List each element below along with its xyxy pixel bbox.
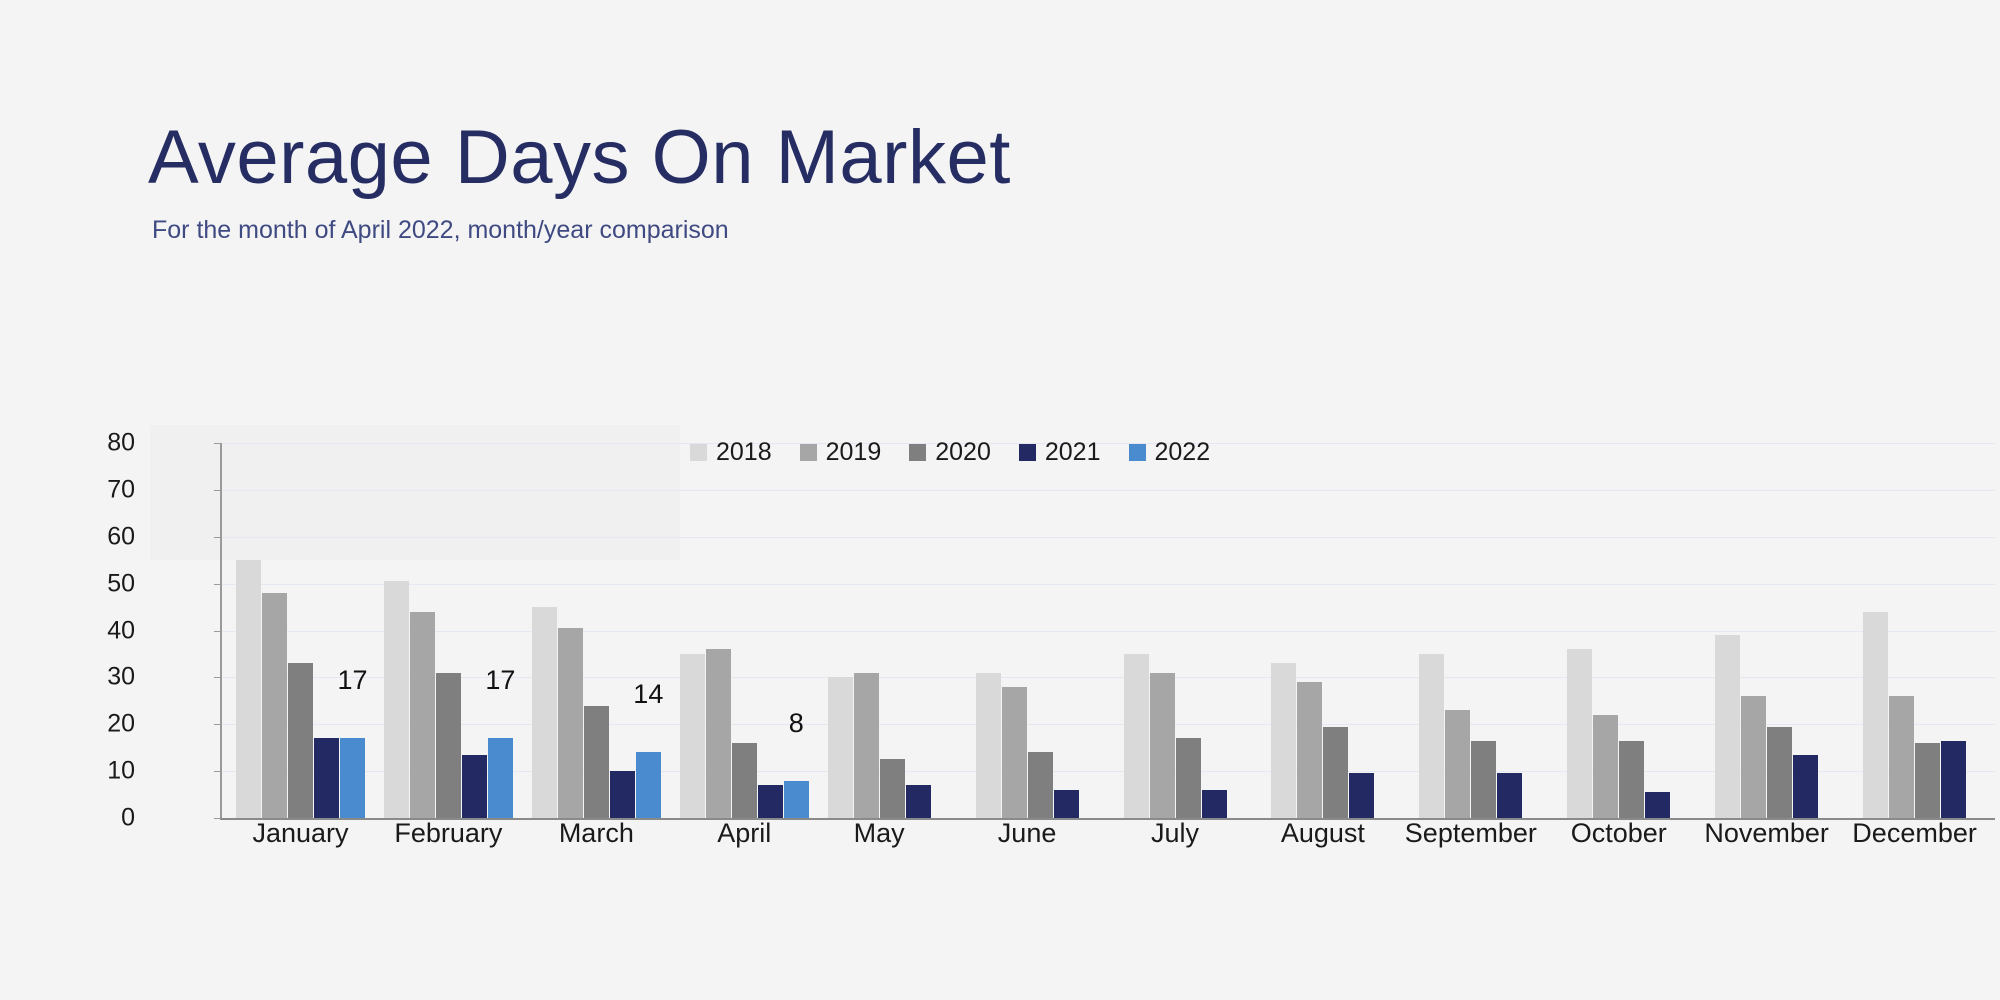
page-title: Average Days On Market: [148, 120, 1748, 196]
legend-swatch-icon: [800, 444, 817, 461]
bar-april-2021[interactable]: [758, 785, 783, 818]
legend-swatch-icon: [1129, 444, 1146, 461]
x-axis-label-december: December: [1852, 818, 1977, 849]
bar-group-february: [384, 443, 513, 818]
bar-group-june: [976, 443, 1079, 818]
x-axis-label-october: October: [1571, 818, 1667, 849]
bar-june-2018[interactable]: [976, 673, 1001, 818]
legend-swatch-icon: [909, 444, 926, 461]
bar-december-2020[interactable]: [1915, 743, 1940, 818]
legend-item-2022[interactable]: 2022: [1129, 440, 1211, 465]
legend-item-label: 2019: [826, 440, 882, 465]
bar-july-2019[interactable]: [1150, 673, 1175, 818]
x-axis-label-november: November: [1704, 818, 1829, 849]
y-axis-tick-label: 30: [75, 663, 135, 692]
bar-february-2021[interactable]: [462, 755, 487, 818]
bar-group-may: [828, 443, 931, 818]
bar-group-january: [236, 443, 365, 818]
bar-group-april: [680, 443, 809, 818]
bar-march-2020[interactable]: [584, 706, 609, 819]
bar-september-2019[interactable]: [1445, 710, 1470, 818]
bar-group-september: [1419, 443, 1522, 818]
bar-march-2021[interactable]: [610, 771, 635, 818]
y-axis-tick-label: 20: [75, 710, 135, 739]
x-axis-label-august: August: [1281, 818, 1365, 849]
bar-february-2022[interactable]: [488, 738, 513, 818]
legend-item-label: 2018: [716, 440, 772, 465]
bar-group-october: [1567, 443, 1670, 818]
y-axis-tick-label: 70: [75, 475, 135, 504]
bar-june-2021[interactable]: [1054, 790, 1079, 818]
legend-item-2018[interactable]: 2018: [690, 440, 772, 465]
bar-july-2020[interactable]: [1176, 738, 1201, 818]
bar-data-label-april: 8: [789, 708, 804, 739]
bar-january-2022[interactable]: [340, 738, 365, 818]
bar-october-2020[interactable]: [1619, 741, 1644, 818]
bar-august-2020[interactable]: [1323, 727, 1348, 818]
bar-january-2021[interactable]: [314, 738, 339, 818]
x-axis-label-july: July: [1151, 818, 1199, 849]
bar-august-2018[interactable]: [1271, 663, 1296, 818]
x-axis-label-september: September: [1405, 818, 1537, 849]
bar-group-december: [1863, 443, 1966, 818]
bar-group-august: [1271, 443, 1374, 818]
chart-header: Average Days On Market For the month of …: [148, 120, 1748, 245]
bar-march-2019[interactable]: [558, 628, 583, 818]
bar-july-2021[interactable]: [1202, 790, 1227, 818]
x-axis-label-may: May: [854, 818, 905, 849]
y-axis-tick-label: 80: [75, 429, 135, 458]
bar-february-2020[interactable]: [436, 673, 461, 818]
bar-april-2020[interactable]: [732, 743, 757, 818]
bar-may-2019[interactable]: [854, 673, 879, 818]
x-axis-label-february: February: [394, 818, 502, 849]
x-axis-label-june: June: [998, 818, 1057, 849]
bar-may-2018[interactable]: [828, 677, 853, 818]
legend-item-2021[interactable]: 2021: [1019, 440, 1101, 465]
legend-swatch-icon: [690, 444, 707, 461]
page-subtitle: For the month of April 2022, month/year …: [152, 216, 1748, 245]
y-axis-tick-label: 0: [75, 804, 135, 833]
bar-october-2018[interactable]: [1567, 649, 1592, 818]
bar-november-2018[interactable]: [1715, 635, 1740, 818]
y-axis-tick-label: 60: [75, 522, 135, 551]
legend-item-label: 2020: [935, 440, 991, 465]
bar-january-2018[interactable]: [236, 560, 261, 818]
x-axis-label-january: January: [252, 818, 348, 849]
y-axis-tick-label: 40: [75, 616, 135, 645]
bar-april-2018[interactable]: [680, 654, 705, 818]
bar-june-2019[interactable]: [1002, 687, 1027, 818]
bar-october-2021[interactable]: [1645, 792, 1670, 818]
bar-june-2020[interactable]: [1028, 752, 1053, 818]
bar-april-2019[interactable]: [706, 649, 731, 818]
bar-february-2019[interactable]: [410, 612, 435, 818]
bars-layer: 1717148: [222, 443, 1997, 818]
bar-december-2018[interactable]: [1863, 612, 1888, 818]
bar-group-march: [532, 443, 661, 818]
chart-legend: 20182019202020212022: [690, 440, 1210, 465]
bar-november-2021[interactable]: [1793, 755, 1818, 818]
bar-february-2018[interactable]: [384, 581, 409, 818]
bar-april-2022[interactable]: [784, 781, 809, 819]
legend-item-label: 2021: [1045, 440, 1101, 465]
bar-group-july: [1124, 443, 1227, 818]
bar-data-label-march: 14: [633, 679, 663, 710]
x-axis-label-april: April: [717, 818, 771, 849]
bar-december-2019[interactable]: [1889, 696, 1914, 818]
bar-september-2020[interactable]: [1471, 741, 1496, 818]
bar-march-2018[interactable]: [532, 607, 557, 818]
bar-november-2019[interactable]: [1741, 696, 1766, 818]
bar-january-2019[interactable]: [262, 593, 287, 818]
bar-december-2021[interactable]: [1941, 741, 1966, 818]
bar-august-2019[interactable]: [1297, 682, 1322, 818]
x-axis-category-labels: JanuaryFebruaryMarchAprilMayJuneJulyAugu…: [150, 818, 1925, 858]
bar-august-2021[interactable]: [1349, 773, 1374, 818]
bar-september-2021[interactable]: [1497, 773, 1522, 818]
bar-july-2018[interactable]: [1124, 654, 1149, 818]
bar-october-2019[interactable]: [1593, 715, 1618, 818]
bar-may-2021[interactable]: [906, 785, 931, 818]
y-axis-tick-label: 50: [75, 569, 135, 598]
legend-item-2020[interactable]: 2020: [909, 440, 991, 465]
legend-item-label: 2022: [1155, 440, 1211, 465]
bar-data-label-january: 17: [337, 665, 367, 696]
x-axis-label-march: March: [559, 818, 634, 849]
bar-january-2020[interactable]: [288, 663, 313, 818]
legend-item-2019[interactable]: 2019: [800, 440, 882, 465]
bar-november-2020[interactable]: [1767, 727, 1792, 818]
bar-may-2020[interactable]: [880, 759, 905, 818]
bar-group-november: [1715, 443, 1818, 818]
bar-september-2018[interactable]: [1419, 654, 1444, 818]
bar-data-label-february: 17: [485, 665, 515, 696]
y-axis-tick-label: 10: [75, 757, 135, 786]
bar-chart: 80706050403020100 1717148: [150, 425, 1850, 865]
legend-swatch-icon: [1019, 444, 1036, 461]
bar-march-2022[interactable]: [636, 752, 661, 818]
